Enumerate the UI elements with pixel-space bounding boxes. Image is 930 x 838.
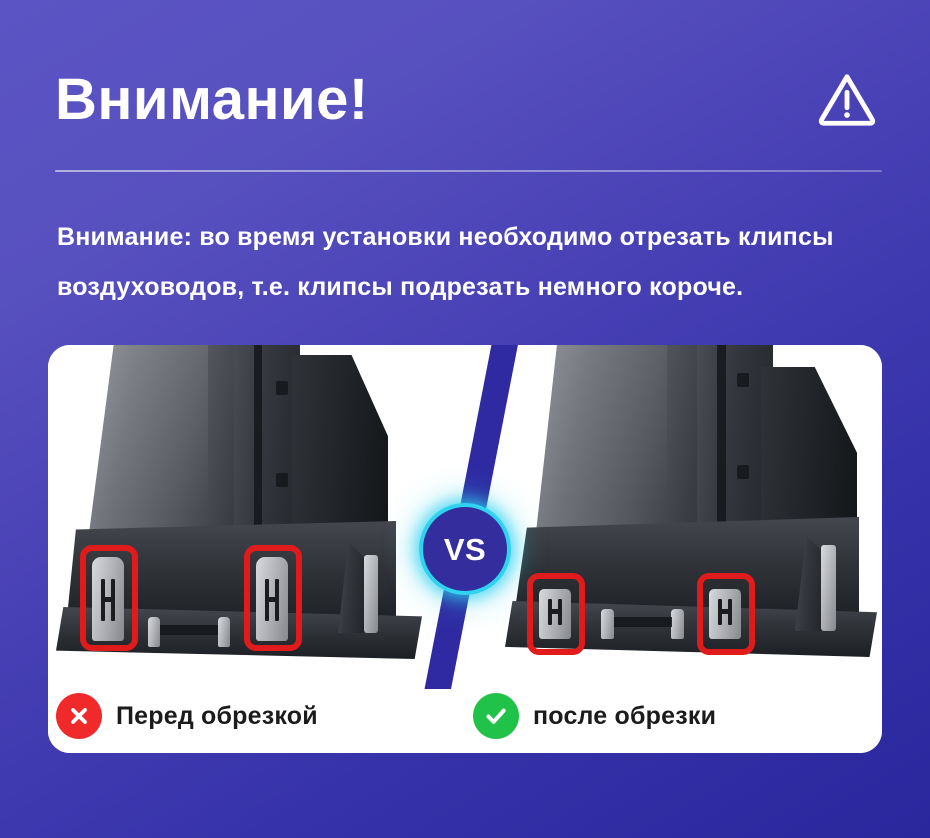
page-title: Внимание! [55,71,369,129]
cross-icon [56,693,102,739]
notice-text: Внимание: во время установки необходимо … [57,212,887,312]
warning-infographic-page: Внимание! Внимание: во время установки н… [0,0,930,838]
header-divider [55,170,882,172]
clip-highlight-box [244,545,302,651]
warning-triangle-icon [816,69,878,131]
vs-badge: VS [419,503,511,595]
before-label: Перед обрезкой [116,702,318,731]
after-label-group: после обрезки [473,693,716,739]
clip-highlight-box [697,573,755,655]
check-icon [473,693,519,739]
page-header: Внимание! [55,56,882,144]
vs-label: VS [444,534,486,565]
before-label-group: Перед обрезкой [56,693,318,739]
clip-highlight-box [80,545,138,651]
after-label: после обрезки [533,702,716,731]
clip-highlight-box [527,573,585,655]
comparison-labels: Перед обрезкой после обрезки [48,689,882,753]
comparison-card: VS Перед обрезкой после обрезки [48,345,882,753]
